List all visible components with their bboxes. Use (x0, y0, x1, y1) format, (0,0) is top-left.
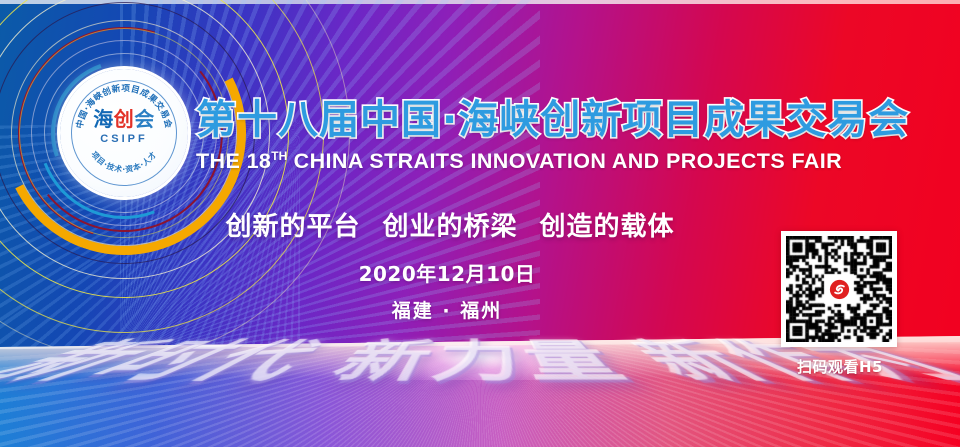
floor-text-part-1: 新时代 (0, 336, 341, 390)
logo-acronym: CSIPF (60, 133, 188, 145)
title-en-number: 18 (247, 149, 272, 173)
csipf-logo-badge: 中国·海峡创新项目成果交易会 项目·技术·资本·人才 海创会 CSIPF (60, 69, 188, 197)
title-en-post: CHINA STRAITS INNOVATION AND PROJECTS FA… (287, 149, 842, 173)
floor-text-part-2: 新力量 (310, 336, 650, 390)
slogan-part-2: 创业的桥梁 (382, 212, 517, 242)
logo-wordmark: 海创会 (60, 109, 188, 129)
page-title: 第十八届中国·海峡创新项目成果交易会 (196, 98, 936, 142)
headline-block: 第十八届中国·海峡创新项目成果交易会 THE 18TH CHINA STRAIT… (196, 98, 936, 174)
logo-char-chuang: 创 (114, 107, 135, 131)
logo-core: 海创会 CSIPF (60, 109, 188, 145)
title-en-ordinal: TH (271, 149, 287, 163)
page-title-english: THE 18TH CHINA STRAITS INNOVATION AND PR… (196, 149, 936, 174)
floor-text-wrap: 新时代新力量新作为 (0, 330, 960, 447)
title-en-pre: THE (196, 149, 247, 173)
event-date: 2020年12月10日 (0, 258, 894, 287)
top-light-strip (0, 0, 960, 4)
event-banner: 中国·海峡创新项目成果交易会 项目·技术·资本·人才 海创会 CSIPF 第十八… (0, 0, 960, 447)
logo-char-hai: 海 (93, 107, 114, 131)
logo-char-hui: 会 (134, 107, 155, 131)
qr-caption: 扫码观看H5 (757, 356, 923, 377)
qr-code[interactable] (781, 231, 897, 347)
event-location: 福建 · 福州 (0, 296, 894, 323)
slogan-part-1: 创新的平台 (225, 212, 360, 242)
qr-center-mark (826, 276, 853, 303)
slogan-part-3: 创造的载体 (540, 212, 675, 242)
